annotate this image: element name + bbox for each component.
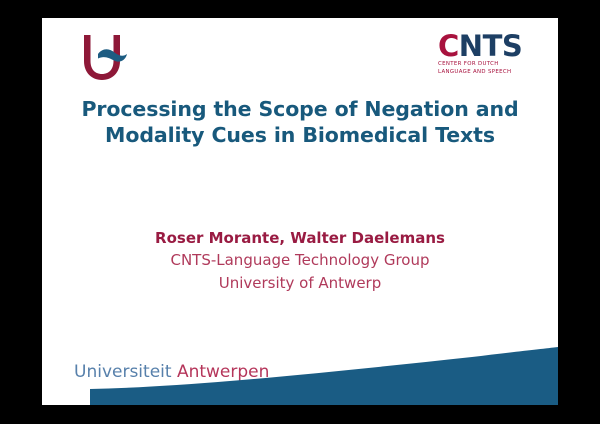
cnts-letter-c: C [438,29,459,63]
swoosh-icon [98,49,127,61]
affiliation-line-2: University of Antwerp [60,272,540,295]
title-line-2: Modality Cues in Biomedical Texts [60,122,540,148]
wave-fill [90,347,558,405]
footer-wave-decoration [42,345,558,405]
author-affiliation-block: Roser Morante, Walter Daelemans CNTS-Lan… [60,228,540,295]
u-mark-icon [78,31,132,83]
university-of-antwerp-logo [78,31,132,83]
slide-title: Processing the Scope of Negation and Mod… [60,96,540,148]
presentation-slide: CNTS CENTER FOR DUTCH LANGUAGE AND SPEEC… [42,18,558,405]
author-names: Roser Morante, Walter Daelemans [60,228,540,249]
wave-shape-icon [42,345,558,405]
affiliation-line-1: CNTS-Language Technology Group [60,249,540,272]
title-line-1: Processing the Scope of Negation and [60,96,540,122]
cnts-letters-nts: NTS [459,29,522,63]
cnts-logo: CNTS CENTER FOR DUTCH LANGUAGE AND SPEEC… [438,31,530,83]
cnts-wordmark: CNTS [438,31,530,61]
cnts-subtitle-line-2: LANGUAGE AND SPEECH [438,69,530,77]
